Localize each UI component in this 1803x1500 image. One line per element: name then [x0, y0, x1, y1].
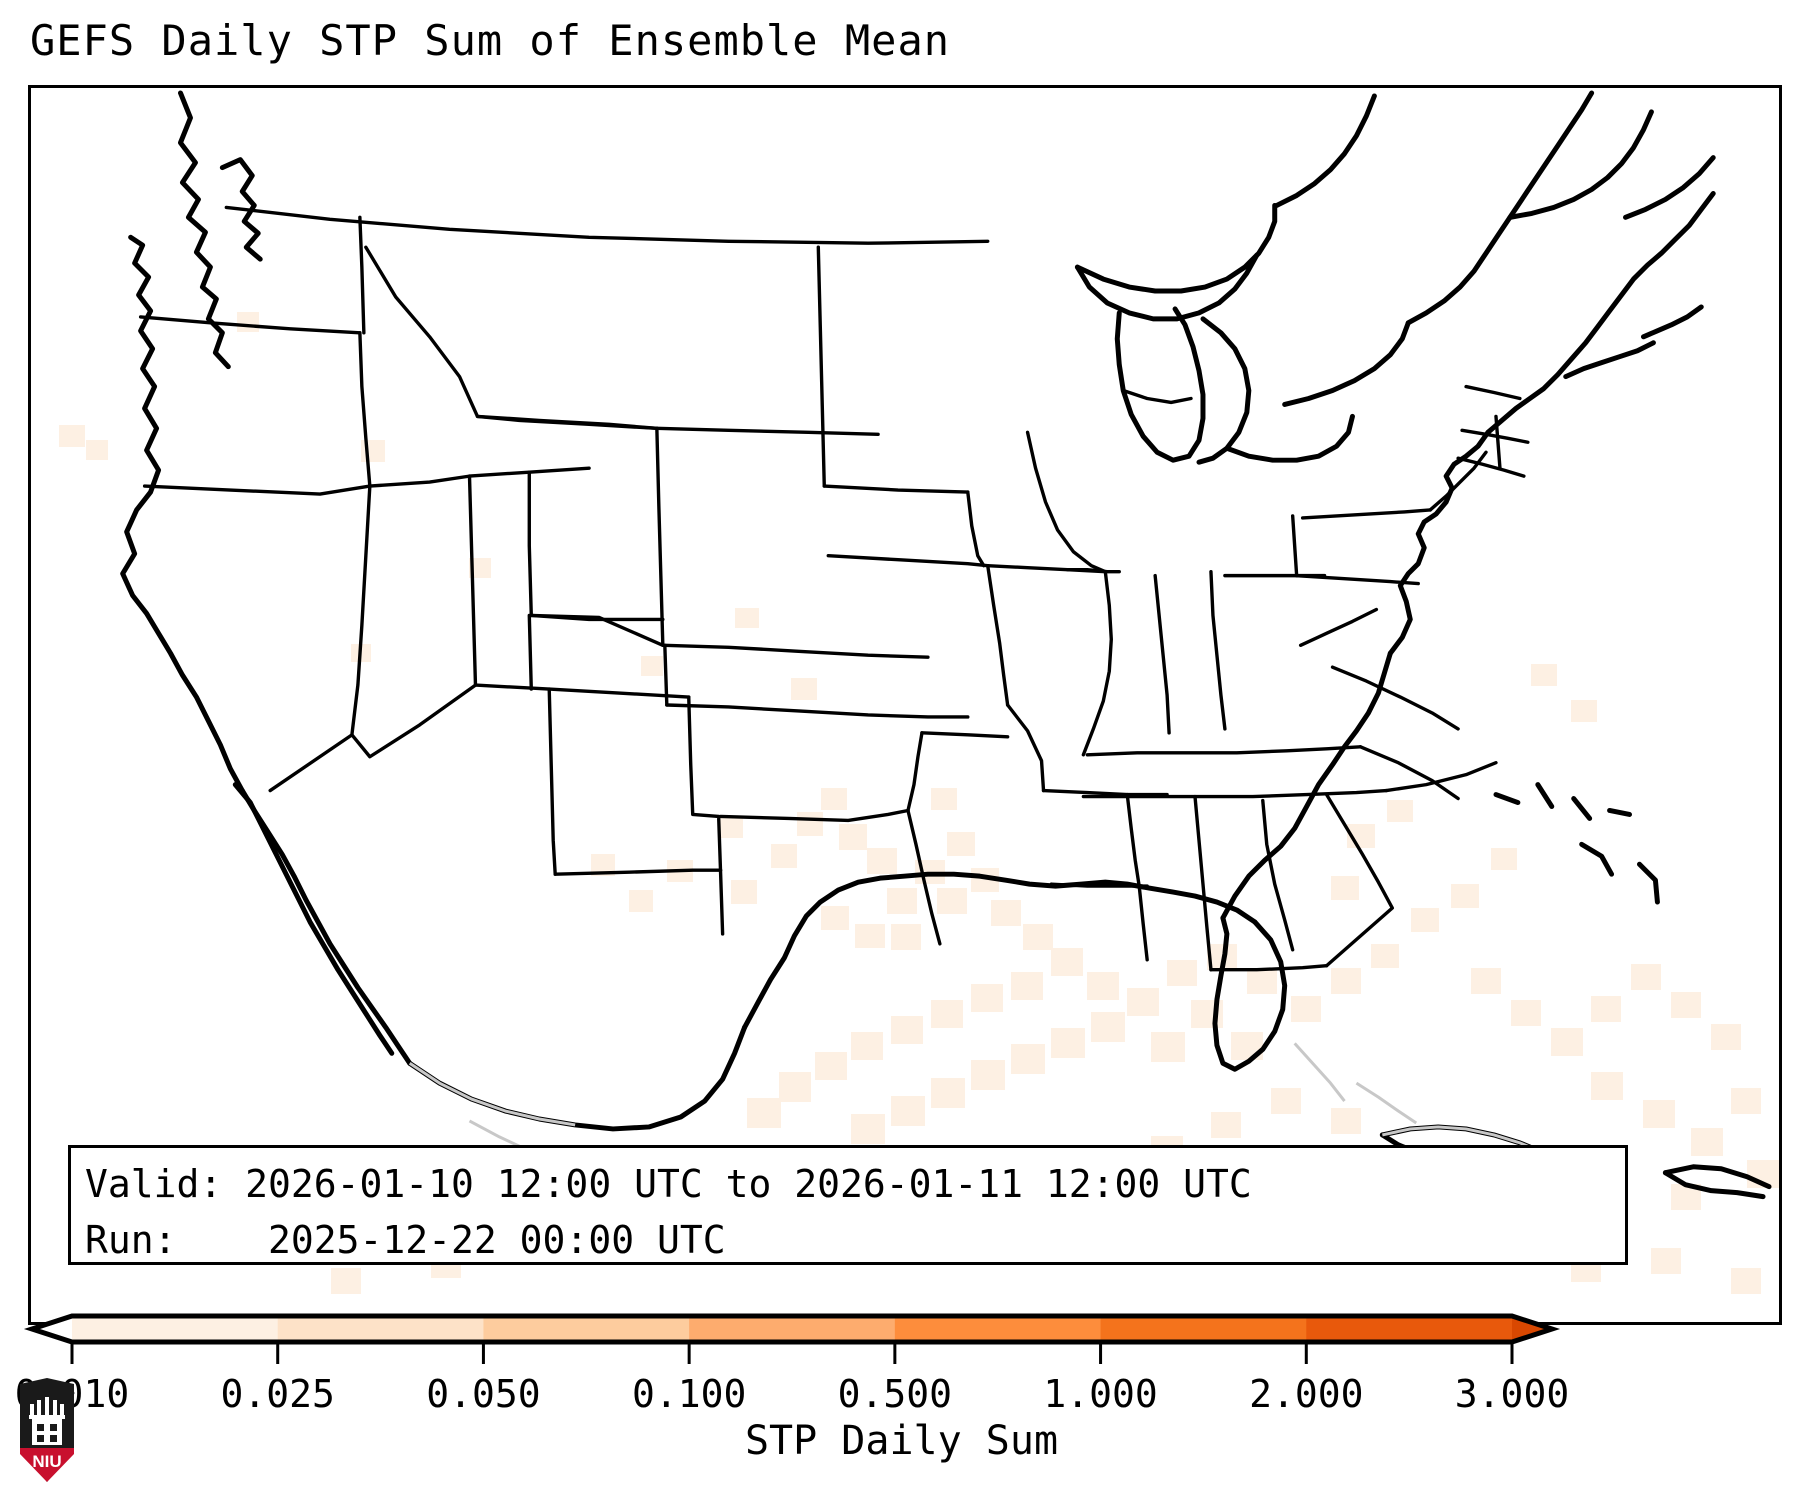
forecast-info-box: Valid: 2026-01-10 12:00 UTC to 2026-01-1…: [68, 1145, 1628, 1265]
colorbar-tick-label: 0.100: [632, 1372, 746, 1416]
run-time-line: Run: 2025-12-22 00:00 UTC: [85, 1212, 1625, 1268]
colorbar-ticks: [72, 1342, 1512, 1364]
colorbar-band: [72, 1316, 278, 1342]
logo-text: NIU: [32, 1452, 61, 1471]
colorbar-tick-label: 1.000: [1043, 1372, 1157, 1416]
page-title: GEFS Daily STP Sum of Ensemble Mean: [30, 16, 950, 65]
state-border-paths: [141, 207, 1528, 969]
valid-time-line: Valid: 2026-01-10 12:00 UTC to 2026-01-1…: [85, 1156, 1625, 1212]
colorbar-tick-label: 3.000: [1455, 1372, 1569, 1416]
map-geography: [31, 88, 1779, 1322]
colorbar-tick-label: 0.500: [838, 1372, 952, 1416]
niu-logo: NIU: [16, 1378, 78, 1482]
colorbar-tick-label: 0.025: [221, 1372, 335, 1416]
colorbar-region: 0.0100.0250.0500.1000.5001.0002.0003.000: [0, 1300, 1803, 1500]
colorbar-band: [1101, 1316, 1307, 1342]
colorbar-band: [278, 1316, 484, 1342]
colorbar-tick-label: 2.000: [1249, 1372, 1363, 1416]
colorbar-band: [689, 1316, 895, 1342]
colorbar-band: [895, 1316, 1101, 1342]
colorbar-band: [1306, 1316, 1512, 1342]
colorbar-bands: [32, 1316, 1552, 1342]
map-frame: [28, 85, 1782, 1325]
colorbar-tick-label: 0.050: [426, 1372, 540, 1416]
colorbar-axis-label: STP Daily Sum: [0, 1418, 1803, 1464]
colorbar-band: [483, 1316, 689, 1342]
